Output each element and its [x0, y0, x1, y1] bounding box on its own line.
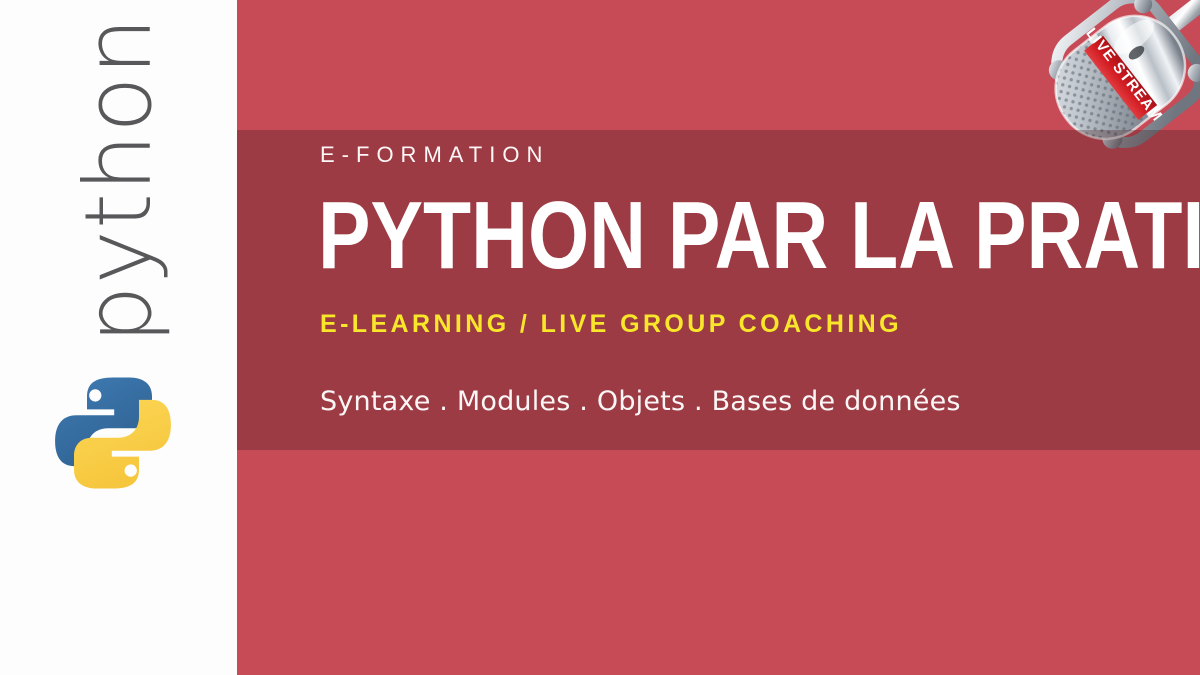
- poster-area: LIVE STREAM E-FORMATION PYTHON PAR LA PR…: [237, 0, 1200, 675]
- topics-list: Syntaxe . Modules . Objets . Bases de do…: [320, 386, 961, 417]
- python-wordmark-text: python: [73, 16, 165, 344]
- poster-text-block: E-FORMATION PYTHON PAR LA PRATIQUE E-LEA…: [320, 130, 1200, 450]
- subheadline-label: E-LEARNING / LIVE GROUP COACHING: [320, 310, 902, 339]
- live-stream-badge-label: LIVE STREAM: [1082, 25, 1166, 125]
- python-brand-panel: python: [0, 0, 237, 675]
- eyebrow-label: E-FORMATION: [320, 142, 549, 168]
- headline-title: PYTHON PAR LA PRATIQUE: [318, 188, 1200, 284]
- promo-banner: python: [0, 0, 1200, 675]
- python-logo: [48, 368, 178, 498]
- python-wordmark: python: [0, 0, 237, 360]
